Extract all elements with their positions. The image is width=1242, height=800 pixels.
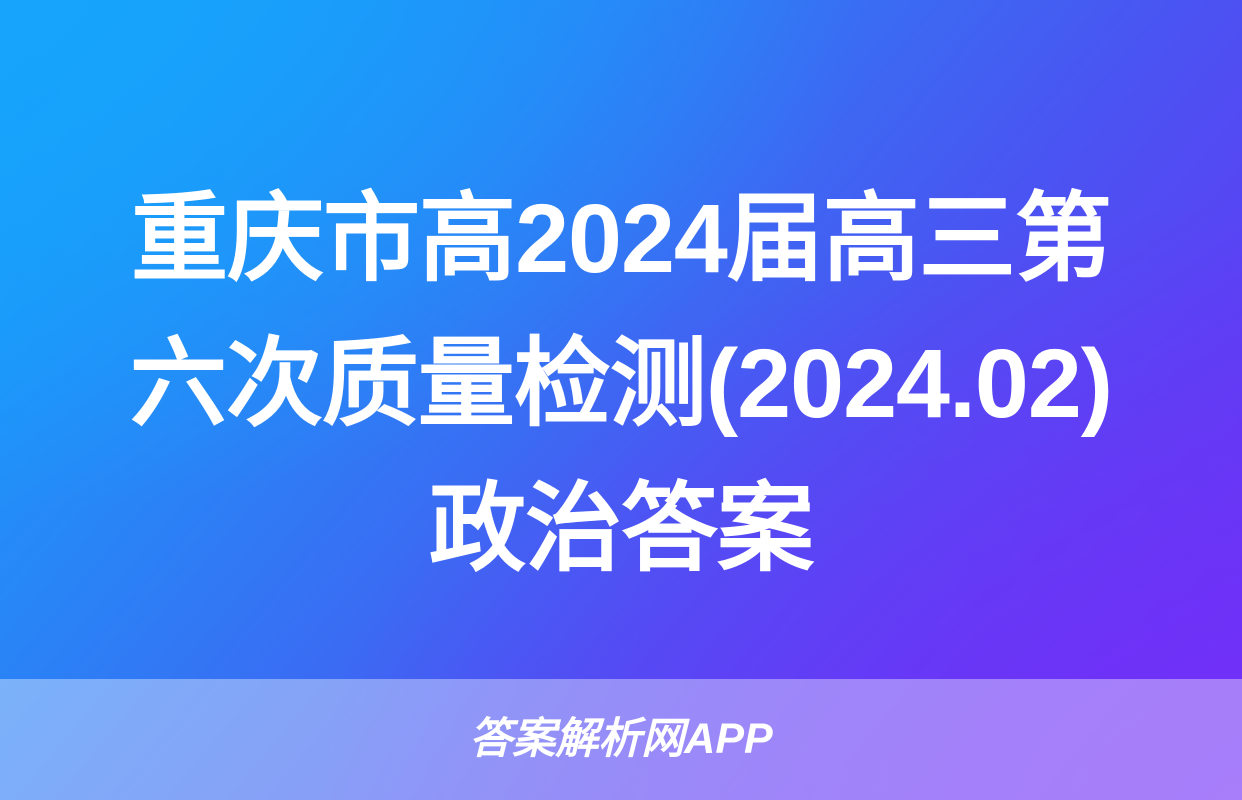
title-line-3: 政治答案 [36,456,1206,601]
watermark-band: 答案解析网APP [0,679,1242,800]
watermark-label: 答案解析网APP [0,712,1242,766]
poster-title: 重庆市高2024届高三第 六次质量检测(2024.02) 政治答案 [0,166,1242,601]
title-line-2: 六次质量检测(2024.02) [36,311,1206,456]
title-line-1: 重庆市高2024届高三第 [36,166,1206,311]
poster-canvas: 重庆市高2024届高三第 六次质量检测(2024.02) 政治答案 答案解析网A… [0,0,1242,800]
